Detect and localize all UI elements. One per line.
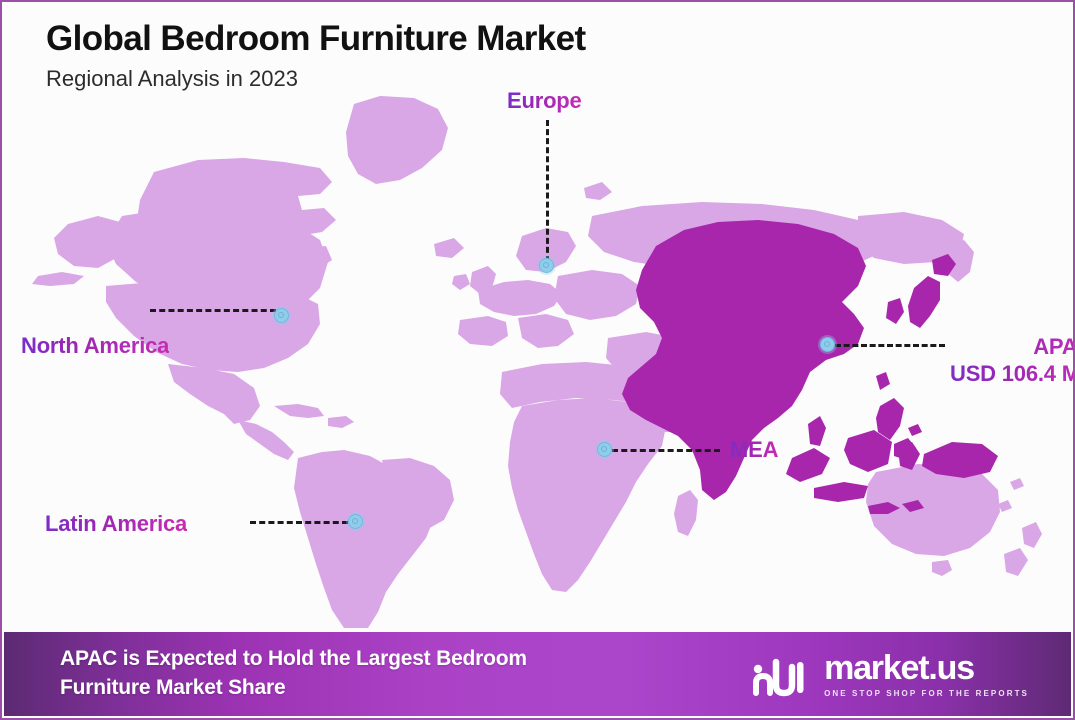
market-us-logo-text: market.us ONE STOP SHOP FOR THE REPORTS bbox=[824, 651, 1029, 698]
region-madagascar bbox=[674, 490, 698, 536]
region-label-north-america[interactable]: North America bbox=[21, 333, 169, 359]
region-java bbox=[814, 482, 868, 502]
page-subtitle: Regional Analysis in 2023 bbox=[46, 66, 586, 92]
region-label-europe[interactable]: Europe bbox=[507, 88, 582, 114]
region-label-apac-value: USD 106.4 Mn bbox=[950, 361, 1075, 388]
banner-headline: APAC is Expected to Hold the Largest Bed… bbox=[60, 645, 527, 703]
banner-headline-line1: APAC is Expected to Hold the Largest Bed… bbox=[60, 645, 527, 674]
region-label-apac-name: APAC bbox=[950, 334, 1075, 361]
region-malaysia-peninsula bbox=[808, 416, 826, 446]
region-africa bbox=[508, 398, 666, 592]
region-mexico bbox=[168, 364, 260, 424]
bottom-banner: APAC is Expected to Hold the Largest Bed… bbox=[4, 632, 1071, 716]
region-svalbard bbox=[584, 182, 612, 200]
region-korea bbox=[886, 298, 904, 324]
header: Global Bedroom Furniture Market Regional… bbox=[46, 20, 586, 92]
region-fiji bbox=[998, 500, 1012, 512]
region-japan bbox=[908, 276, 940, 328]
region-taiwan bbox=[876, 372, 890, 390]
region-greenland bbox=[346, 96, 448, 184]
region-label-mea[interactable]: MEA bbox=[730, 437, 778, 463]
region-label-latin-america[interactable]: Latin America bbox=[45, 511, 187, 537]
region-italy-balkans bbox=[518, 314, 574, 348]
region-iberia bbox=[458, 316, 508, 346]
marker-north-america[interactable] bbox=[274, 308, 289, 323]
infographic-page: Global Bedroom Furniture Market Regional… bbox=[0, 0, 1075, 720]
market-us-logo[interactable]: market.us ONE STOP SHOP FOR THE REPORTS bbox=[750, 649, 1029, 699]
region-moluccas bbox=[908, 424, 922, 436]
region-label-apac[interactable]: APAC USD 106.4 Mn bbox=[950, 334, 1075, 388]
marker-apac[interactable] bbox=[820, 337, 835, 352]
map-apac-highlight bbox=[622, 220, 998, 514]
market-us-logo-icon bbox=[750, 649, 812, 699]
region-iceland bbox=[434, 238, 464, 258]
region-sumatra bbox=[786, 448, 830, 482]
region-new-zealand-s bbox=[1004, 548, 1028, 576]
region-new-zealand bbox=[1022, 522, 1042, 548]
map-base-regions bbox=[32, 96, 1042, 628]
region-hispaniola bbox=[328, 416, 354, 428]
region-caribbean bbox=[274, 404, 324, 418]
marker-mea[interactable] bbox=[597, 442, 612, 457]
region-eastern-europe bbox=[554, 270, 640, 320]
logo-brand-name: market.us bbox=[824, 651, 974, 685]
page-title: Global Bedroom Furniture Market bbox=[46, 20, 586, 59]
region-ireland bbox=[452, 274, 470, 290]
marker-europe[interactable] bbox=[539, 258, 554, 273]
marker-latin-america[interactable] bbox=[348, 514, 363, 529]
region-central-america bbox=[238, 420, 294, 460]
logo-tagline: ONE STOP SHOP FOR THE REPORTS bbox=[824, 689, 1029, 698]
region-pacific-islands bbox=[1010, 478, 1024, 490]
banner-headline-line2: Furniture Market Share bbox=[60, 674, 527, 703]
region-tasmania bbox=[932, 560, 952, 576]
region-philippines bbox=[876, 398, 904, 440]
region-aleutians bbox=[32, 272, 84, 286]
